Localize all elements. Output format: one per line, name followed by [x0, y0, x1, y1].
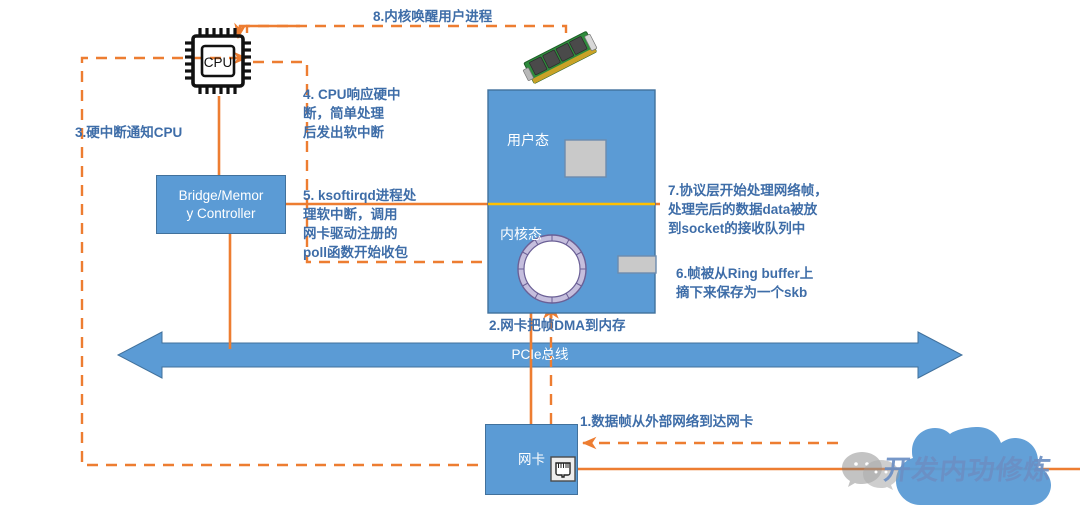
step-8-label: 8.内核唤醒用户进程 — [373, 7, 492, 26]
step-4-label: 4. CPU响应硬中 断，简单处理 后发出软中断 — [303, 85, 401, 142]
bridge-memory-controller-label: Bridge/Memor y Controller — [179, 187, 264, 223]
pcie-bus-label: PCIe总线 — [460, 346, 620, 364]
nic-label: 网卡 — [518, 451, 545, 469]
user-space-label: 用户态 — [507, 130, 549, 150]
step-1-label: 1.数据帧从外部网络到达网卡 — [580, 412, 753, 431]
watermark-text: 开发内功修炼 — [882, 448, 1054, 487]
step-2-label: 2.网卡把帧DMA到内存 — [489, 316, 626, 335]
cpu-label: CPU — [204, 55, 233, 70]
ram-module-icon — [521, 26, 599, 88]
step8-wakeup-path — [238, 26, 566, 38]
skb-box — [618, 256, 656, 273]
socket-queue-box — [565, 140, 606, 177]
bridge-memory-controller-box[interactable]: Bridge/Memor y Controller — [156, 175, 286, 234]
step-3-label: 3.硬中断通知CPU — [75, 123, 182, 142]
kernel-space-label: 内核态 — [500, 224, 542, 244]
diagram-canvas: CPU — [0, 0, 1080, 516]
cpu-chip-icon: CPU — [184, 26, 252, 96]
ethernet-port-icon — [550, 456, 576, 482]
step-5-label: 5. ksoftirqd进程处 理软中断，调用 网卡驱动注册的 poll函数开始… — [303, 186, 416, 262]
step-7-label: 7.协议层开始处理网络帧， 处理完后的数据data被放 到socket的接收队列… — [668, 181, 828, 238]
step-6-label: 6.帧被从Ring buffer上 摘下来保存为一个skb — [676, 264, 813, 302]
